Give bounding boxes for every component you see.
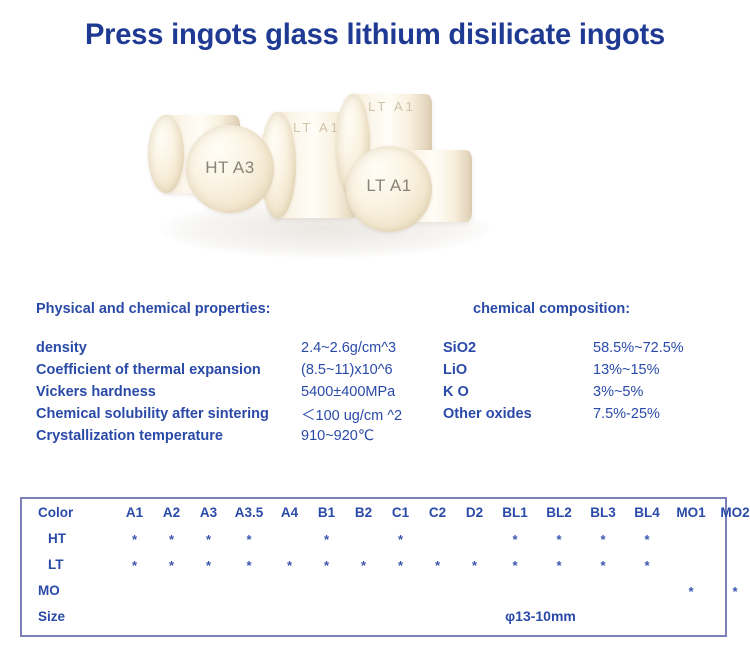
physical-row-3-name: Chemical solubility after sintering [36,403,301,425]
matrix-row-size: Size φ13-10mm [22,603,750,629]
cell-mo-mo1: * [669,577,713,603]
star-icon: * [600,559,605,572]
cell-lt-mo1 [669,551,713,577]
cell-mo-a4 [271,577,308,603]
ingot-front-right-face: LT A1 [346,146,432,232]
chemical-row-2-name: K O [443,381,593,403]
cell-lt-a1: * [116,551,153,577]
chemical-row-0-name: SiO2 [443,337,593,359]
matrix-col-d2: D2 [456,499,493,525]
cell-ht-a4 [271,525,308,551]
physical-properties-block: Physical and chemical properties: densit… [36,301,426,447]
star-icon: * [169,533,174,546]
physical-row-4-value: 910~920℃ [301,425,402,447]
star-icon: * [169,559,174,572]
color-availability-table: Color A1 A2 A3 A3.5 A4 B1 B2 C1 C2 D2 BL… [22,499,750,629]
chemical-row-1-value: 13%~15% [593,359,684,381]
cell-mo-d2 [456,577,493,603]
table-row: K O 3%~5% [443,381,684,403]
physical-properties-heading: Physical and chemical properties: [36,301,426,317]
star-icon: * [688,585,693,598]
star-icon: * [512,533,517,546]
cell-mo-bl4 [625,577,669,603]
matrix-col-mo2: MO2 [713,499,750,525]
ingot-front-left-face: HT A3 [186,125,274,213]
star-icon: * [361,559,366,572]
cell-ht-bl3: * [581,525,625,551]
chemical-composition-block: chemical composition: SiO2 58.5%~72.5% L… [473,301,743,425]
cell-mo-a35 [227,577,271,603]
ingot-back-right-label: LT A1 [356,99,428,114]
physical-row-0-name: density [36,337,301,359]
cell-lt-d2: * [456,551,493,577]
matrix-col-bl3: BL3 [581,499,625,525]
cell-mo-a1 [116,577,153,603]
cell-lt-b2: * [345,551,382,577]
star-icon: * [556,533,561,546]
star-icon: * [287,559,292,572]
cell-mo-bl1 [493,577,537,603]
cell-ht-mo1 [669,525,713,551]
cell-ht-a1: * [116,525,153,551]
cell-ht-b2 [345,525,382,551]
star-icon: * [246,533,251,546]
table-row: Coefficient of thermal expansion (8.5~11… [36,359,402,381]
chemical-row-0-value: 58.5%~72.5% [593,337,684,359]
star-icon: * [644,533,649,546]
cell-lt-bl3: * [581,551,625,577]
physical-row-1-name: Coefficient of thermal expansion [36,359,301,381]
matrix-row-ht: HT * * * * * * * * * * [22,525,750,551]
matrix-col-bl2: BL2 [537,499,581,525]
cell-ht-mo2 [713,525,750,551]
matrix-col-bl4: BL4 [625,499,669,525]
table-row: Vickers hardness 5400±400MPa [36,381,402,403]
table-row: density 2.4~2.6g/cm^3 [36,337,402,359]
physical-row-1-value: (8.5~11)x10^6 [301,359,402,381]
matrix-row-lt: LT * * * * * * * * * * * * * * [22,551,750,577]
cell-lt-a35: * [227,551,271,577]
cell-ht-c2 [419,525,456,551]
physical-row-0-value: 2.4~2.6g/cm^3 [301,337,402,359]
star-icon: * [132,559,137,572]
matrix-row-label-lt: LT [22,551,116,577]
matrix-col-a3: A3 [190,499,227,525]
chemical-row-2-value: 3%~5% [593,381,684,403]
cell-lt-c1: * [382,551,419,577]
matrix-row-label-mo: MO [22,577,116,603]
ingot-label-lt-a1: LT A1 [346,176,432,196]
cell-ht-a2: * [153,525,190,551]
matrix-col-b2: B2 [345,499,382,525]
cell-mo-b1 [308,577,345,603]
chemical-row-1-name: LiO [443,359,593,381]
star-icon: * [324,559,329,572]
cell-ht-d2 [456,525,493,551]
product-photo: LT A1 LT A1 LT A1 HT A3 [150,88,510,273]
matrix-size-value: φ13-10mm [116,603,750,629]
table-row: SiO2 58.5%~72.5% [443,337,684,359]
chemical-composition-table: SiO2 58.5%~72.5% LiO 13%~15% K O 3%~5% O… [443,337,684,425]
table-row: Other oxides 7.5%-25% [443,403,684,425]
chemical-row-3-value: 7.5%-25% [593,403,684,425]
matrix-col-mo1: MO1 [669,499,713,525]
cell-mo-c2 [419,577,456,603]
matrix-corner-label: Color [22,499,116,525]
star-icon: * [512,559,517,572]
star-icon: * [472,559,477,572]
color-availability-box: Color A1 A2 A3 A3.5 A4 B1 B2 C1 C2 D2 BL… [20,497,727,637]
physical-properties-table: density 2.4~2.6g/cm^3 Coefficient of the… [36,337,402,447]
cell-ht-b1: * [308,525,345,551]
physical-row-2-value: 5400±400MPa [301,381,402,403]
matrix-header-row: Color A1 A2 A3 A3.5 A4 B1 B2 C1 C2 D2 BL… [22,499,750,525]
star-icon: * [398,533,403,546]
table-row: LiO 13%~15% [443,359,684,381]
cell-mo-mo2: * [713,577,750,603]
star-icon: * [132,533,137,546]
cell-lt-mo2 [713,551,750,577]
chemical-row-3-name: Other oxides [443,403,593,425]
star-icon: * [206,533,211,546]
cell-mo-b2 [345,577,382,603]
cell-mo-c1 [382,577,419,603]
star-icon: * [435,559,440,572]
cell-mo-bl2 [537,577,581,603]
matrix-col-a1: A1 [116,499,153,525]
cell-ht-c1: * [382,525,419,551]
star-icon: * [600,533,605,546]
cell-ht-a35: * [227,525,271,551]
table-row: Chemical solubility after sintering ＜100… [36,403,402,425]
star-icon: * [644,559,649,572]
cell-lt-bl1: * [493,551,537,577]
cell-lt-bl2: * [537,551,581,577]
star-icon: * [732,585,737,598]
page-title: Press ingots glass lithium disilicate in… [11,16,739,54]
matrix-row-mo: MO * * [22,577,750,603]
cell-lt-b1: * [308,551,345,577]
star-icon: * [324,533,329,546]
matrix-row-label-size: Size [22,603,116,629]
matrix-col-a4: A4 [271,499,308,525]
physical-row-2-name: Vickers hardness [36,381,301,403]
table-row: Crystallization temperature 910~920℃ [36,425,402,447]
matrix-col-b1: B1 [308,499,345,525]
star-icon: * [206,559,211,572]
cell-ht-bl4: * [625,525,669,551]
physical-row-4-name: Crystallization temperature [36,425,301,447]
matrix-col-c2: C2 [419,499,456,525]
matrix-col-bl1: BL1 [493,499,537,525]
matrix-row-label-ht: HT [22,525,116,551]
matrix-col-a35: A3.5 [227,499,271,525]
star-icon: * [556,559,561,572]
ingot-label-ht-a3: HT A3 [186,158,274,178]
matrix-col-c1: C1 [382,499,419,525]
cell-lt-bl4: * [625,551,669,577]
cell-lt-a2: * [153,551,190,577]
physical-row-3-value: ＜100 ug/cm ^2 [301,403,402,425]
star-icon: * [246,559,251,572]
cell-mo-a2 [153,577,190,603]
cell-mo-bl3 [581,577,625,603]
cell-ht-a3: * [190,525,227,551]
cell-lt-a3: * [190,551,227,577]
cell-lt-c2: * [419,551,456,577]
cell-mo-a3 [190,577,227,603]
cell-ht-bl1: * [493,525,537,551]
chemical-composition-heading: chemical composition: [473,301,743,317]
star-icon: * [398,559,403,572]
matrix-col-a2: A2 [153,499,190,525]
ingot-back-left-face [148,115,184,193]
cell-ht-bl2: * [537,525,581,551]
cell-lt-a4: * [271,551,308,577]
